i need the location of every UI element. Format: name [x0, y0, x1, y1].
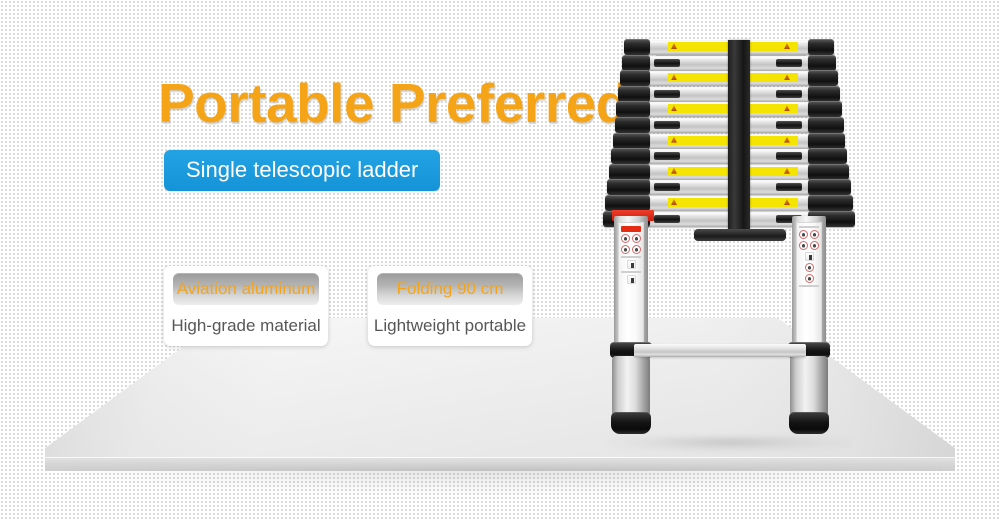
rung-end-cap-right — [808, 164, 849, 180]
ladder-leg-left — [610, 216, 652, 434]
leg-rubber-foot — [611, 412, 651, 434]
rung-warning-label — [668, 167, 728, 176]
rung-end-cap-right — [808, 148, 847, 164]
subtitle-badge: Single telescopic ladder — [164, 150, 440, 191]
page-title: Portable Preferred — [158, 76, 629, 131]
rung-end-cap-right — [808, 55, 836, 71]
feature-pill-label: Folding 90 cm — [377, 273, 523, 305]
instruction-pictogram-icon — [627, 275, 636, 284]
leg-lower-tube — [612, 356, 650, 418]
decal-text-line — [799, 226, 819, 228]
rung-clip — [776, 121, 802, 129]
warning-pictogram-icon — [621, 234, 630, 243]
rung-warning-label — [668, 42, 728, 51]
rung-clip — [654, 183, 680, 191]
rung-end-cap-right — [808, 86, 840, 102]
rung-end-cap-left — [616, 101, 650, 117]
warning-pictogram-icon — [632, 234, 641, 243]
warning-pictogram-icon — [810, 230, 819, 239]
instruction-pictogram-icon — [627, 260, 636, 269]
rung-clip — [776, 59, 802, 67]
leg-rubber-foot — [789, 412, 829, 434]
feature-card-folding-90cm[interactable]: Folding 90 cm Lightweight portable — [368, 266, 532, 346]
rung-end-cap-right — [808, 101, 842, 117]
ladder-strap-base — [694, 229, 786, 241]
rung-clip — [654, 152, 680, 160]
promo-banner: Portable Preferred Single telescopic lad… — [0, 0, 1000, 520]
rung-clip — [654, 90, 680, 98]
feature-card-aviation-aluminum[interactable]: Aviation aluminum High-grade material — [164, 266, 328, 346]
ladder-crossbar — [634, 344, 806, 357]
rung-end-cap-left — [618, 86, 650, 102]
rung-clip — [776, 90, 802, 98]
warning-pictogram-icon — [621, 245, 630, 254]
warning-pictogram-icon — [805, 263, 814, 272]
instruction-pictogram-icon — [805, 252, 814, 261]
product-image-telescopic-ladder — [600, 28, 860, 428]
warning-pictogram-icon — [810, 241, 819, 250]
decal-text-line — [621, 271, 641, 273]
rung-clip — [776, 183, 802, 191]
decal-text-line — [621, 256, 641, 258]
rung-end-cap-left — [613, 133, 650, 149]
rung-warning-label — [668, 73, 728, 82]
feature-sub-label: High-grade material — [164, 310, 328, 342]
rung-warning-label — [668, 136, 728, 145]
rung-end-cap-left — [622, 55, 650, 71]
rung-clip — [654, 59, 680, 67]
ladder-ground-shadow — [608, 436, 852, 452]
feature-sub-label: Lightweight portable — [368, 310, 532, 342]
decal-text-line — [799, 285, 819, 287]
rung-end-cap-left — [620, 70, 650, 86]
rung-end-cap-right — [808, 117, 844, 133]
feature-pill-label: Aviation aluminum — [173, 273, 319, 305]
warning-pictogram-icon — [805, 274, 814, 283]
rung-end-cap-left — [615, 117, 651, 133]
safety-decal-icon — [796, 222, 822, 346]
rung-end-cap-right — [808, 70, 838, 86]
rung-end-cap-left — [609, 164, 650, 180]
warning-pictogram-icon — [799, 241, 808, 250]
rung-end-cap-right — [808, 179, 851, 195]
safety-decal-icon — [618, 222, 644, 346]
rung-end-cap-right — [808, 133, 845, 149]
rung-end-cap-left — [605, 195, 650, 211]
ladder-carry-strap — [728, 40, 750, 232]
ladder-rung-stack — [616, 36, 842, 224]
rung-end-cap-right — [808, 39, 834, 55]
rung-clip — [654, 121, 680, 129]
warning-pictogram-icon — [632, 245, 641, 254]
podium-ground-shadow — [63, 468, 943, 494]
rung-warning-label — [668, 198, 728, 207]
rung-end-cap-left — [624, 39, 650, 55]
rung-clip — [776, 152, 802, 160]
rung-warning-label — [668, 104, 728, 113]
warning-pictogram-icon — [799, 230, 808, 239]
rung-end-cap-right — [808, 195, 853, 211]
rung-end-cap-left — [611, 148, 650, 164]
rung-end-cap-left — [607, 179, 650, 195]
leg-lower-tube — [790, 356, 828, 418]
rung-clip — [654, 215, 680, 223]
ladder-leg-right — [788, 216, 830, 434]
decal-red-band — [621, 226, 641, 232]
